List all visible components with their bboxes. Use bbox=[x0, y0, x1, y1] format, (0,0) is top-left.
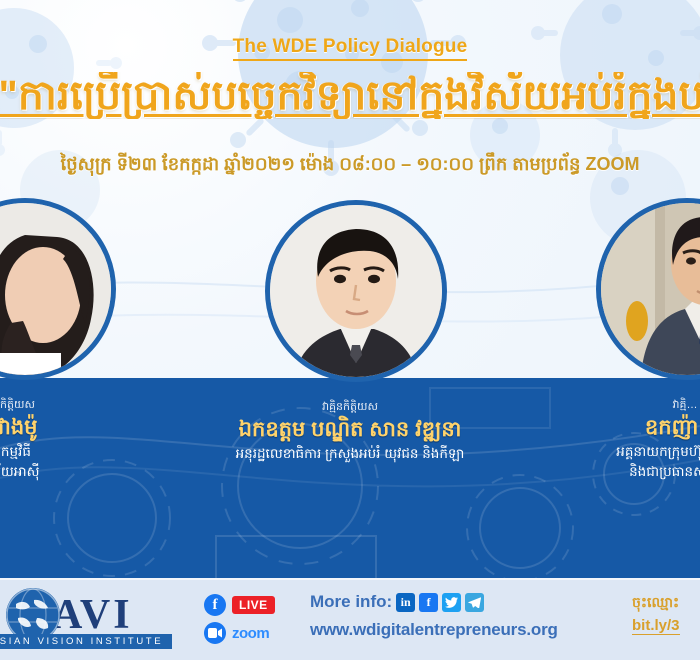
website-url[interactable]: www.wdigitalentrepreneurs.org bbox=[310, 620, 558, 640]
speaker-name-right: ឧកញ៉ា … bbox=[560, 415, 700, 441]
poster-root: The WDE Policy Dialogue ៥៖ "ការប្រើប្រាស… bbox=[0, 0, 700, 660]
register-link[interactable]: bit.ly/3 bbox=[632, 617, 680, 635]
facebook-icon[interactable]: f bbox=[204, 594, 226, 616]
speaker-title-center-line1: អនុរដ្ឋលេខាធិការ ក្រសួងអប់រំ យុវជន និងកី… bbox=[190, 445, 510, 463]
speaker-role-right: វាគ្មិ… bbox=[560, 398, 700, 414]
register-label: ចុះឈ្មោះ bbox=[632, 593, 680, 614]
video-camera-icon[interactable] bbox=[204, 622, 226, 644]
more-info-row: More info: in f bbox=[310, 592, 484, 612]
event-series-text: The WDE Policy Dialogue bbox=[233, 36, 468, 61]
telegram-icon[interactable] bbox=[465, 593, 484, 612]
event-series-label: The WDE Policy Dialogue bbox=[0, 36, 700, 58]
register-block: ចុះឈ្មោះ bit.ly/3 bbox=[632, 593, 680, 635]
twitter-icon[interactable] bbox=[442, 593, 461, 612]
avi-subtitle: ASIAN VISION INSTITUTE bbox=[0, 634, 172, 649]
page-title-text: ៥៖ "ការប្រើប្រាស់បច្ចេកវិទ្យានៅក្នុងវិស័… bbox=[0, 72, 700, 118]
speaker-block-center: វាគ្មិនកិត្តិយស ឯកឧត្តម បណ្ឌិត សាន វឌ្ឍន… bbox=[190, 400, 510, 463]
speaker-title-left-line1: …រកម្មវិធី bbox=[0, 443, 132, 461]
speaker-name-center: ឯកឧត្តម បណ្ឌិត សាន វឌ្ឍនា bbox=[190, 417, 510, 443]
avi-wordmark: AVI bbox=[52, 594, 133, 636]
speaker-role-left: វាគ្មិនកិត្តិយស bbox=[0, 398, 132, 414]
speaker-name-left: …វាងម៉ូ bbox=[0, 415, 132, 441]
speaker-block-right: វាគ្មិ… ឧកញ៉ា … អគ្គនាយកក្រុមហ៊ុនជសង… និ… bbox=[560, 398, 700, 482]
center-speaker-photo bbox=[265, 200, 447, 382]
facebook-icon-small[interactable]: f bbox=[419, 593, 438, 612]
zoom-row[interactable]: zoom bbox=[204, 622, 269, 644]
speaker-title-right-line2: និងជាប្រធានសមាគ… bbox=[560, 463, 700, 481]
page-title: ៥៖ "ការប្រើប្រាស់បច្ចេកវិទ្យានៅក្នុងវិស័… bbox=[0, 72, 700, 119]
event-datetime: ថ្ងៃសុក្រ ទី២៣ ខែកក្កដា ឆ្នាំ២០២១ ម៉ោង ០… bbox=[0, 152, 700, 179]
zoom-label: zoom bbox=[232, 625, 269, 642]
speaker-role-center: វាគ្មិនកិត្តិយស bbox=[190, 400, 510, 416]
facebook-live-row[interactable]: f LIVE bbox=[204, 594, 275, 616]
speaker-block-left: វាគ្មិនកិត្តិយស …វាងម៉ូ …រកម្មវិធី …ស័យអ… bbox=[0, 398, 132, 482]
speaker-title-left-line2: …ស័យអាស៊ី bbox=[0, 463, 132, 481]
linkedin-icon[interactable]: in bbox=[396, 593, 415, 612]
more-info-label: More info: bbox=[310, 592, 392, 612]
live-badge: LIVE bbox=[232, 596, 275, 614]
speaker-title-right-line1: អគ្គនាយកក្រុមហ៊ុនជសង… bbox=[560, 443, 700, 461]
